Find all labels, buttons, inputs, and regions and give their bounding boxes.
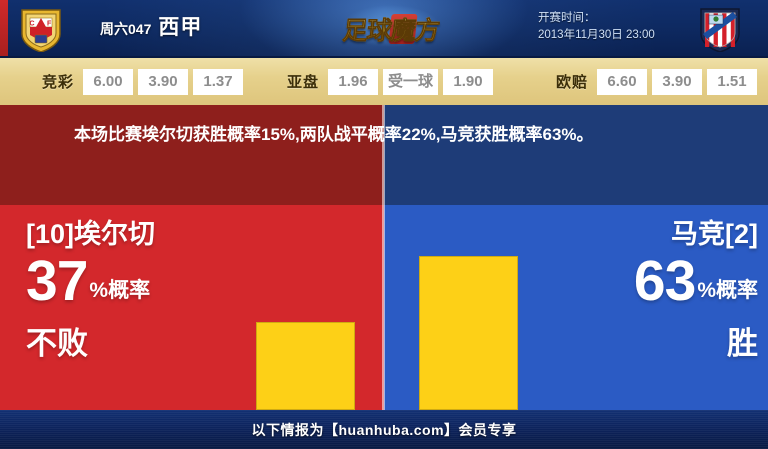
match-league: 西甲: [158, 11, 202, 41]
away-percent-label: %概率: [697, 280, 758, 310]
odds-cell[interactable]: 6.00: [83, 69, 133, 95]
home-percent-value: 37: [26, 253, 87, 310]
odds-group-jingcai: 竞彩 6.00 3.90 1.37: [42, 69, 248, 95]
home-team-name: [10]埃尔切: [26, 217, 326, 251]
away-percent-row: 63 %概率: [458, 253, 758, 310]
home-percent-row: 37 %概率: [26, 253, 326, 310]
odds-label: 竞彩: [42, 71, 74, 92]
odds-label: 亚盘: [287, 71, 319, 92]
odds-cell[interactable]: 6.60: [597, 69, 647, 95]
odds-group-oupei: 欧赔 6.60 3.90 1.51: [556, 69, 762, 95]
odds-cell[interactable]: 3.90: [652, 69, 702, 95]
odds-bar: 竞彩 6.00 3.90 1.37 亚盘 1.96 受一球 1.90 欧赔 6.…: [0, 58, 768, 105]
match-preview-screen: C F 周六047 西甲 足球魔方 开赛时间： 2013年11月30日 23:0…: [0, 0, 768, 449]
kickoff-label: 开赛时间：: [538, 10, 688, 27]
header-bar: C F 周六047 西甲 足球魔方 开赛时间： 2013年11月30日 23:0…: [0, 0, 768, 58]
odds-cell-handicap[interactable]: 受一球: [383, 69, 438, 95]
probability-panel: 本场比赛埃尔切获胜概率15%,两队战平概率22%,马竞获胜概率63%。 [10]…: [0, 105, 768, 410]
site-logo-text: 足球魔方: [341, 11, 441, 47]
away-team-name: 马竞[2]: [458, 217, 758, 251]
elche-cf-crest-icon: C F: [18, 6, 64, 52]
kickoff-time: 开赛时间： 2013年11月30日 23:00: [538, 10, 688, 44]
atletico-madrid-crest-icon: [697, 6, 743, 52]
home-result-label: 不败: [26, 324, 326, 364]
odds-group-yapan: 亚盘 1.96 受一球 1.90: [287, 69, 498, 95]
away-result-label: 胜: [458, 324, 758, 364]
home-percent-label: %概率: [89, 280, 150, 310]
odds-cell[interactable]: 1.90: [443, 69, 493, 95]
odds-label: 欧赔: [556, 71, 588, 92]
odds-cell[interactable]: 3.90: [138, 69, 188, 95]
match-round: 周六047: [100, 19, 151, 39]
panel-divider: [382, 105, 385, 410]
odds-cell[interactable]: 1.96: [328, 69, 378, 95]
kickoff-value: 2013年11月30日 23:00: [538, 27, 688, 44]
odds-cell[interactable]: 1.51: [707, 69, 757, 95]
site-logo[interactable]: 足球魔方: [330, 4, 452, 54]
home-team-block: [10]埃尔切 37 %概率 不败: [26, 217, 326, 364]
away-percent-value: 63: [634, 253, 695, 310]
match-title: 周六047 西甲: [100, 11, 202, 47]
footer-text: 以下情报为【huanhuba.com】会员专享: [251, 420, 516, 440]
svg-text:C: C: [30, 21, 35, 28]
away-team-block: 马竞[2] 63 %概率 胜: [458, 217, 758, 364]
odds-cell[interactable]: 1.37: [193, 69, 243, 95]
footer-bar: 以下情报为【huanhuba.com】会员专享: [0, 410, 768, 449]
svg-text:F: F: [47, 21, 52, 28]
